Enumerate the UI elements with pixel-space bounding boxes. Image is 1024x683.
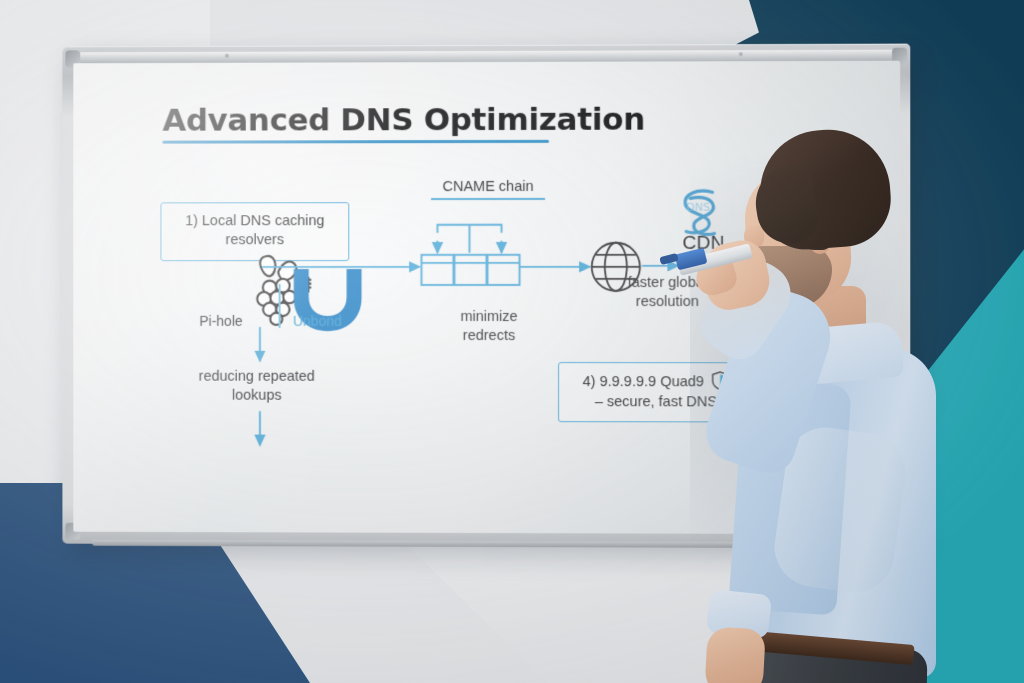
unbond-label: Unbond (268, 312, 368, 330)
person-presenter (690, 130, 950, 683)
reducing-line2: lookups (172, 386, 341, 405)
minimize-redirects-label: minimize redrects (431, 308, 547, 346)
scene: Advanced DNS Optimization 1) Local DNS c… (0, 0, 1024, 683)
frame-screw (739, 52, 743, 56)
box1-line1: 1) Local DNS caching (167, 212, 342, 231)
title-underline (162, 140, 549, 144)
page-title: Advanced DNS Optimization (162, 102, 645, 139)
person-resting-hand (704, 627, 766, 683)
box1-line2: resolvers (167, 231, 342, 250)
box4-line1-text: 4) 9.9.9.9.9 Quad9 (583, 374, 704, 390)
box-local-dns-caching[interactable]: 1) Local DNS caching resolvers (160, 202, 349, 261)
cname-chain-underline (431, 198, 545, 200)
reducing-line1: reducing repeated (172, 368, 341, 387)
minimize-line1: minimize (431, 308, 547, 327)
cname-chain-label: CNAME chain (428, 178, 548, 197)
reducing-lookups-label: reducing repeated lookups (172, 368, 341, 406)
pihole-label: Pi-hole (176, 312, 265, 330)
minimize-line2: redrects (431, 327, 547, 346)
frame-screw (225, 54, 229, 58)
